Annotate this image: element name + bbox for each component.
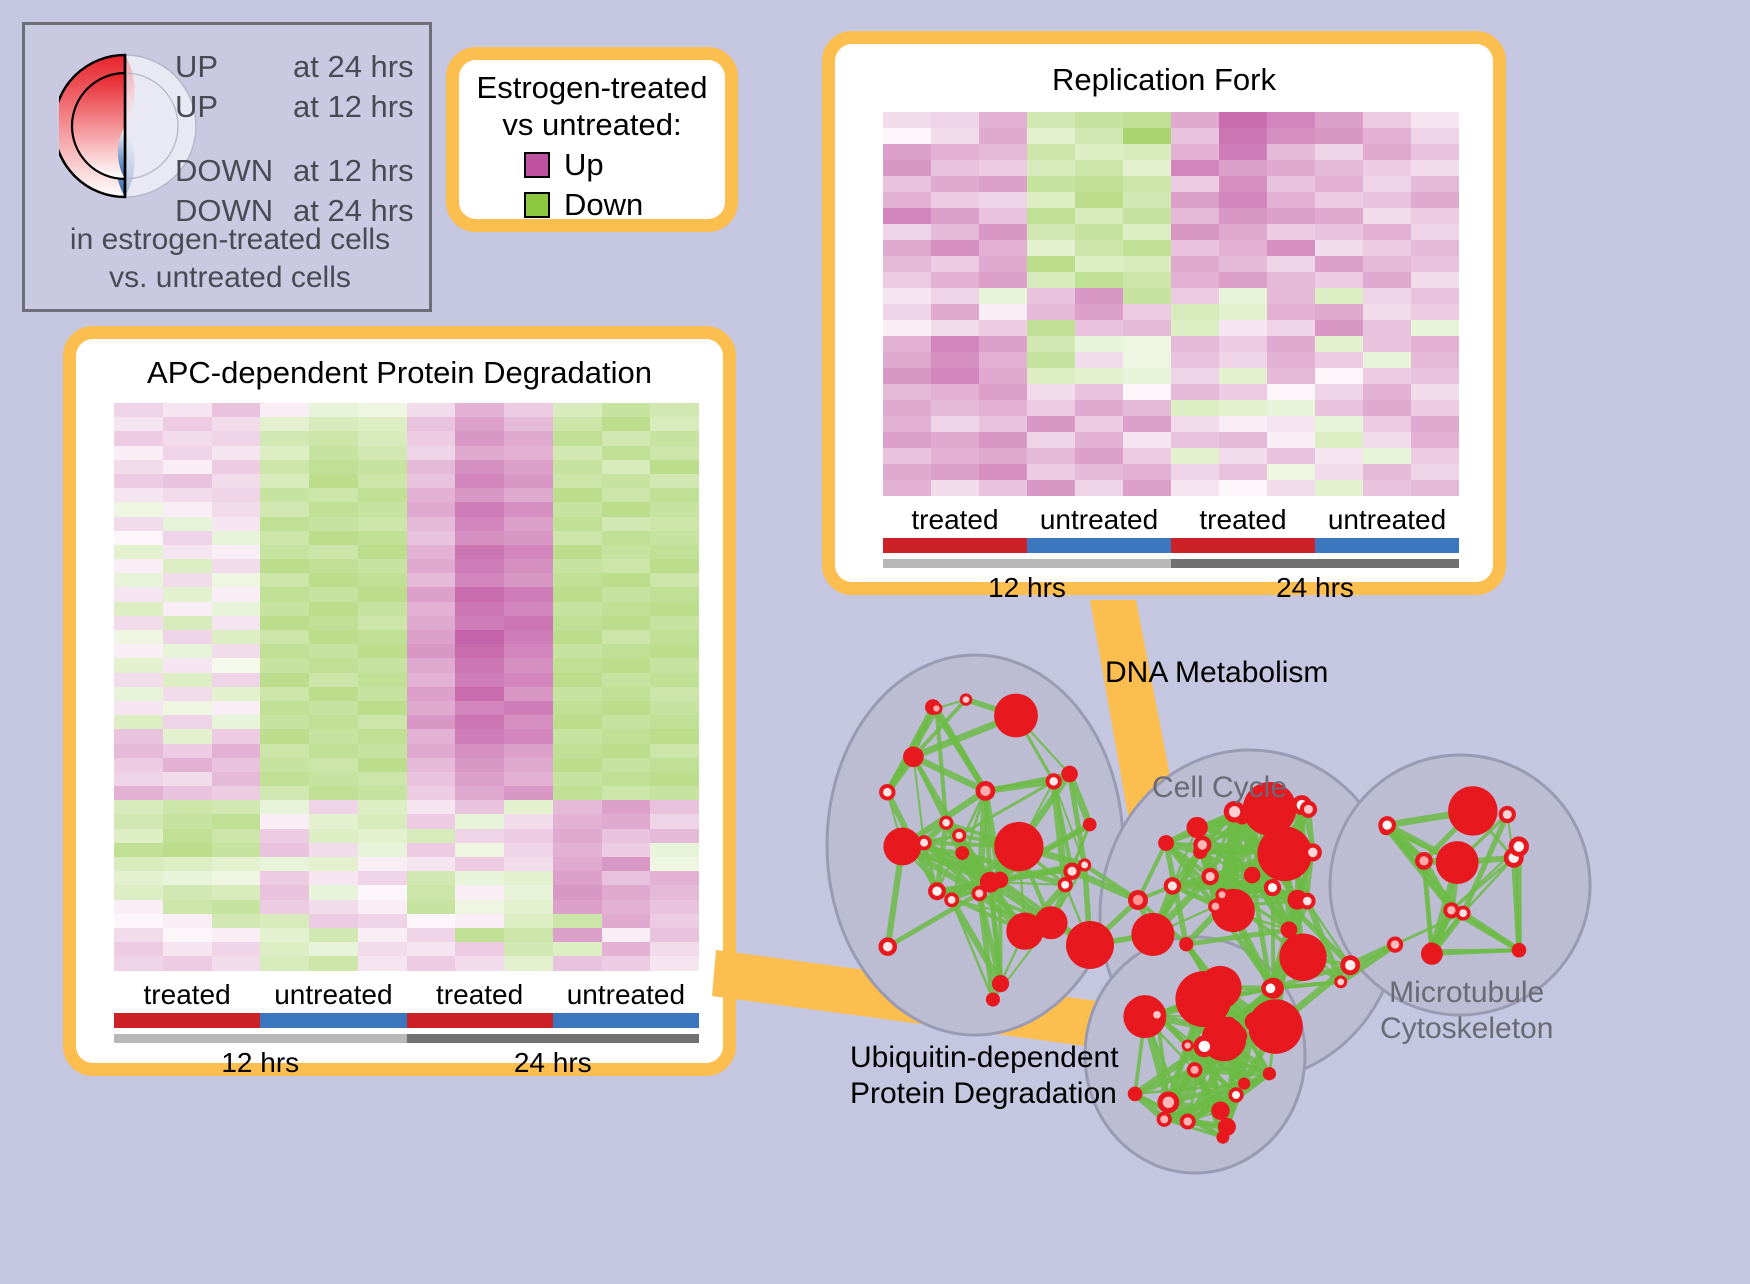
heatmap-cell [602, 658, 651, 672]
heatmap-cell [309, 403, 358, 417]
heatmap-cell [979, 240, 1027, 256]
heatmap-cell [883, 448, 931, 464]
network-node[interactable] [1061, 766, 1078, 783]
heatmap-cell [1411, 416, 1459, 432]
heatmap-cell [407, 616, 456, 630]
heatmap-cell [1219, 384, 1267, 400]
heatmap-cell [1123, 480, 1171, 496]
heatmap-cell [1075, 288, 1123, 304]
heatmap-cell [1219, 352, 1267, 368]
heatmap-cell [309, 857, 358, 871]
condition-bar-segment [407, 1013, 553, 1028]
heatmap-cell [931, 272, 979, 288]
heatmap-cell [602, 772, 651, 786]
heatmap-cell [650, 673, 699, 687]
heatmap-cell [504, 673, 553, 687]
heatmap-cell [650, 644, 699, 658]
heatmap-cell [504, 871, 553, 885]
heatmap-cell [931, 368, 979, 384]
heatmap-cell [1123, 320, 1171, 336]
heatmap-cell [260, 814, 309, 828]
heatmap-cell [1123, 464, 1171, 480]
network-node[interactable] [994, 822, 1043, 871]
heatmap-cell [260, 644, 309, 658]
network-node[interactable] [1228, 1026, 1247, 1045]
network-node[interactable] [1448, 786, 1497, 835]
heatmap-cell [1219, 288, 1267, 304]
heatmap-cell [212, 573, 261, 587]
heatmap-cell [358, 446, 407, 460]
network-node[interactable] [1214, 989, 1234, 1009]
replication-fork-condition-bar [883, 538, 1459, 553]
network-node[interactable] [1150, 1007, 1165, 1022]
heatmap-cell [1315, 272, 1363, 288]
heatmap-cell [114, 488, 163, 502]
heatmap-cell [212, 885, 261, 899]
network-node[interactable] [1509, 836, 1529, 856]
heatmap-cell [650, 687, 699, 701]
legend-value: at 12 hrs [293, 89, 414, 125]
network-node[interactable] [1263, 1067, 1276, 1080]
heatmap-cell [260, 687, 309, 701]
heatmap-cell [602, 729, 651, 743]
heatmap-cell [309, 829, 358, 843]
network-node[interactable] [1378, 816, 1396, 834]
node-inner-core [1337, 978, 1344, 985]
heatmap-cell [1123, 304, 1171, 320]
node-inner-core [883, 788, 892, 797]
heatmap-cell [883, 480, 931, 496]
network-node[interactable] [1334, 975, 1347, 988]
heatmap-cell [455, 829, 504, 843]
heatmap-cell [212, 460, 261, 474]
heatmap-cell [602, 758, 651, 772]
heatmap-cell [212, 729, 261, 743]
network-node[interactable] [944, 892, 959, 907]
heatmap-cell [1075, 128, 1123, 144]
network-node[interactable] [1443, 902, 1459, 918]
heatmap-cell [883, 160, 931, 176]
network-node[interactable] [1281, 921, 1298, 938]
heatmap-cell [163, 900, 212, 914]
heatmap-cell [309, 658, 358, 672]
heatmap-cell [979, 144, 1027, 160]
network-node[interactable] [1193, 1035, 1215, 1057]
network-node[interactable] [928, 882, 946, 900]
heatmap-cell [553, 587, 602, 601]
network-node[interactable] [1208, 899, 1223, 914]
heatmap-cell [309, 885, 358, 899]
network-node[interactable] [1304, 843, 1322, 861]
heatmap-cell [455, 701, 504, 715]
heatmap-cell [602, 715, 651, 729]
network-node[interactable] [1421, 943, 1443, 965]
node-inner-core [1160, 1115, 1168, 1123]
heatmap-cell [504, 517, 553, 531]
heatmap-cell [163, 914, 212, 928]
heatmap-cell [1363, 448, 1411, 464]
heatmap-cell [1411, 272, 1459, 288]
network-node[interactable] [992, 975, 1009, 992]
heatmap-cell [553, 786, 602, 800]
heatmap-cell [650, 843, 699, 857]
network-node[interactable] [883, 828, 921, 866]
heatmap-cell [553, 460, 602, 474]
heatmap-cell [163, 403, 212, 417]
heatmap-cell [650, 800, 699, 814]
heatmap-cell [455, 502, 504, 516]
heatmap-cell [212, 502, 261, 516]
heatmap-cell [114, 573, 163, 587]
heatmap-cell [114, 673, 163, 687]
time-label: 24 hrs [407, 1047, 700, 1079]
heatmap-cell [1219, 112, 1267, 128]
heatmap-cell [931, 480, 979, 496]
heatmap-cell [114, 900, 163, 914]
network-node[interactable] [916, 835, 931, 850]
network-node[interactable] [1164, 877, 1181, 894]
node-inner-core [1185, 1042, 1191, 1048]
network-node[interactable] [878, 937, 897, 956]
network-node[interactable] [1006, 913, 1043, 950]
network-node[interactable] [1066, 921, 1114, 969]
heatmap-cell [1075, 176, 1123, 192]
heatmap-cell [1219, 480, 1267, 496]
heatmap-cell [504, 658, 553, 672]
heatmap-cell [1267, 160, 1315, 176]
heatmap-cell [114, 559, 163, 573]
heatmap-cell [407, 871, 456, 885]
heatmap-cell [1171, 272, 1219, 288]
network-node[interactable] [1058, 877, 1073, 892]
heatmap-cell [1027, 480, 1075, 496]
heatmap-cell [931, 208, 979, 224]
heatmap-cell [163, 871, 212, 885]
heatmap-cell [1075, 208, 1123, 224]
heatmap-cell [163, 857, 212, 871]
heatmap-cell [1363, 128, 1411, 144]
heatmap-cell [163, 517, 212, 531]
heatmap-cell [931, 320, 979, 336]
network-node[interactable] [1131, 913, 1174, 956]
heatmap-cell [650, 531, 699, 545]
heatmap-cell [1171, 416, 1219, 432]
heatmap-cell [1267, 176, 1315, 192]
heatmap-cell [602, 630, 651, 644]
heatmap-cell [114, 531, 163, 545]
heatmap-cell [1315, 304, 1363, 320]
node-outer-ring [955, 846, 969, 860]
heatmap-cell [1363, 352, 1411, 368]
heatmap-cell [1171, 384, 1219, 400]
heatmap-cell [407, 687, 456, 701]
heatmap-cell [1171, 208, 1219, 224]
heatmap-cell [931, 352, 979, 368]
heatmap-cell [1411, 144, 1459, 160]
node-outer-ring [992, 975, 1009, 992]
network-node[interactable] [1157, 1112, 1172, 1127]
heatmap-cell [650, 928, 699, 942]
heatmap-cell [114, 857, 163, 871]
network-node[interactable] [1078, 858, 1091, 871]
heatmap-cell [1075, 352, 1123, 368]
heatmap-cell [1123, 224, 1171, 240]
heatmap-cell [212, 800, 261, 814]
heatmap-cell [650, 942, 699, 956]
node-inner-core [942, 819, 949, 826]
heatmap-cell [1075, 416, 1123, 432]
heatmap-cell [1219, 336, 1267, 352]
heatmap-cell [1171, 320, 1219, 336]
network-node[interactable] [1228, 1087, 1243, 1102]
node-outer-ring [1277, 839, 1296, 858]
heatmap-cell [114, 800, 163, 814]
updown-key-row-down: Down [459, 187, 725, 223]
heatmap-cell [1171, 480, 1219, 496]
heatmap-cell [114, 403, 163, 417]
heatmap-cell [504, 885, 553, 899]
network-node[interactable] [1180, 1113, 1196, 1129]
network-node[interactable] [1512, 943, 1527, 958]
network-node[interactable] [1261, 979, 1280, 998]
heatmap-cell [407, 403, 456, 417]
heatmap-cell [650, 900, 699, 914]
updown-title-line-2: vs untreated: [459, 107, 725, 144]
network-node[interactable] [879, 784, 895, 800]
heatmap-cell [309, 701, 358, 715]
network-node[interactable] [903, 747, 924, 768]
heatmap-cell [1027, 240, 1075, 256]
node-outer-ring [1179, 937, 1193, 951]
node-outer-ring [994, 694, 1038, 738]
heatmap-cell [358, 502, 407, 516]
heatmap-cell [407, 602, 456, 616]
heatmap-cell [1075, 240, 1123, 256]
heatmap-cell [358, 602, 407, 616]
heatmap-cell [114, 914, 163, 928]
heatmap-cell [455, 488, 504, 502]
heatmap-cell [602, 474, 651, 488]
heatmap-cell [1075, 432, 1123, 448]
heatmap-cell [114, 616, 163, 630]
heatmap-cell [1411, 320, 1459, 336]
heatmap-cell [358, 744, 407, 758]
heatmap-cell [979, 368, 1027, 384]
heatmap-cell [358, 630, 407, 644]
node-inner-core [933, 705, 939, 711]
network-node[interactable] [1218, 1118, 1236, 1136]
network-node[interactable] [971, 886, 987, 902]
network-node[interactable] [1193, 836, 1211, 854]
node-inner-core [975, 889, 983, 897]
heatmap-cell [1267, 224, 1315, 240]
heatmap-cell [455, 531, 504, 545]
heatmap-cell [1027, 304, 1075, 320]
heatmap-cell [212, 658, 261, 672]
network-node[interactable] [986, 992, 1000, 1006]
network-node[interactable] [1277, 839, 1296, 858]
heatmap-cell [455, 446, 504, 460]
heatmap-cell [163, 545, 212, 559]
heatmap-cell [1411, 448, 1459, 464]
heatmap-cell [455, 900, 504, 914]
network-node[interactable] [994, 694, 1038, 738]
network-node[interactable] [1300, 801, 1317, 818]
heatmap-cell [114, 446, 163, 460]
heatmap-cell [163, 531, 212, 545]
heatmap-cell [1411, 384, 1459, 400]
node-outer-ring [1244, 867, 1261, 884]
heatmap-cell [1315, 160, 1363, 176]
heatmap-cell [163, 644, 212, 658]
network-node[interactable] [1238, 1078, 1250, 1090]
node-outer-ring [1245, 1012, 1265, 1032]
condition-bar-segment [1315, 538, 1459, 553]
heatmap-cell [455, 744, 504, 758]
heatmap-cell [212, 928, 261, 942]
heatmap-cell [358, 517, 407, 531]
network-node[interactable] [1245, 1012, 1265, 1032]
heatmap-cell [553, 843, 602, 857]
node-inner-core [1067, 867, 1076, 876]
heatmap-cell [212, 914, 261, 928]
heatmap-cell [309, 786, 358, 800]
heatmap-cell [358, 758, 407, 772]
network-node[interactable] [1083, 818, 1097, 832]
heatmap-cell [553, 673, 602, 687]
heatmap-cell [602, 602, 651, 616]
node-inner-core [1229, 806, 1240, 817]
network-node[interactable] [939, 816, 953, 830]
heatmap-cell [1411, 336, 1459, 352]
node-inner-core [1268, 883, 1277, 892]
node-inner-core [1266, 984, 1276, 994]
heatmap-cell [504, 900, 553, 914]
network-node[interactable] [952, 828, 966, 842]
heatmap-cell [212, 871, 261, 885]
heatmap-cell [931, 192, 979, 208]
heatmap-cell [931, 400, 979, 416]
heatmap-cell [455, 715, 504, 729]
heatmap-cell [114, 687, 163, 701]
heatmap-cell [931, 240, 979, 256]
heatmap-cell [260, 502, 309, 516]
network-node[interactable] [1211, 1101, 1229, 1119]
heatmap-cell [212, 431, 261, 445]
network-node[interactable] [1340, 955, 1360, 975]
heatmap-cell [407, 857, 456, 871]
heatmap-cell [163, 687, 212, 701]
network-node[interactable] [1158, 835, 1174, 851]
network-node[interactable] [1179, 937, 1193, 951]
network-node[interactable] [1299, 893, 1316, 910]
network-node[interactable] [1415, 852, 1433, 870]
heatmap-cell [260, 403, 309, 417]
heatmap-cell [309, 956, 358, 970]
heatmap-cell [1363, 224, 1411, 240]
node-inner-core [955, 832, 962, 839]
network-node[interactable] [1264, 879, 1281, 896]
heatmap-cell [602, 857, 651, 871]
network-node[interactable] [1182, 1040, 1194, 1052]
heatmap-cell [1315, 112, 1363, 128]
heatmap-cell [358, 687, 407, 701]
heatmap-cell [553, 602, 602, 616]
heatmap-cell [163, 630, 212, 644]
heatmap-cell [979, 176, 1027, 192]
heatmap-cell [114, 829, 163, 843]
heatmap-cell [979, 288, 1027, 304]
network-node[interactable] [1499, 806, 1516, 823]
heatmap-cell [260, 431, 309, 445]
heatmap-cell [553, 559, 602, 573]
heatmap-cell [1027, 384, 1075, 400]
time-bar-segment [1171, 559, 1459, 568]
heatmap-cell [504, 744, 553, 758]
heatmap-cell [260, 758, 309, 772]
heatmap-cell [1123, 416, 1171, 432]
time-label: 12 hrs [114, 1047, 407, 1079]
network-node[interactable] [1279, 933, 1326, 980]
heatmap-cell [407, 715, 456, 729]
heatmap-cell [212, 744, 261, 758]
heatmap-cell [1411, 160, 1459, 176]
heatmap-cell [1219, 464, 1267, 480]
network-node[interactable] [930, 702, 942, 714]
heatmap-cell [455, 673, 504, 687]
heatmap-cell [358, 573, 407, 587]
network-node[interactable] [1215, 888, 1228, 901]
heatmap-cell [407, 517, 456, 531]
heatmap-cell [1267, 352, 1315, 368]
heatmap-cell [1411, 256, 1459, 272]
replication-fork-title: Replication Fork [835, 44, 1493, 98]
network-node[interactable] [1157, 1091, 1179, 1113]
network-node[interactable] [976, 781, 996, 801]
heatmap-cell [602, 928, 651, 942]
heatmap-cell [163, 885, 212, 899]
heatmap-cell [114, 786, 163, 800]
network-node[interactable] [1201, 868, 1219, 886]
heatmap-cell [650, 460, 699, 474]
heatmap-cell [309, 914, 358, 928]
node-outer-ring [1238, 1078, 1250, 1090]
network-node[interactable] [1187, 817, 1208, 838]
network-node[interactable] [1244, 867, 1261, 884]
network-node[interactable] [955, 846, 969, 860]
heatmap-cell [212, 488, 261, 502]
network-node[interactable] [1128, 1087, 1143, 1102]
network-node[interactable] [1436, 841, 1479, 884]
heatmap-cell [1027, 272, 1075, 288]
heatmap-cell [260, 900, 309, 914]
heatmap-cell [163, 431, 212, 445]
heatmap-cell [1363, 320, 1411, 336]
heatmap-cell [553, 885, 602, 899]
network-node[interactable] [1387, 936, 1403, 952]
heatmap-cell [1075, 384, 1123, 400]
condition-label: treated [1171, 504, 1315, 536]
heatmap-cell [163, 928, 212, 942]
heatmap-cell [358, 843, 407, 857]
heatmap-cell [1315, 320, 1363, 336]
network-node[interactable] [1128, 890, 1148, 910]
network-node[interactable] [1187, 1062, 1203, 1078]
heatmap-cell [650, 772, 699, 786]
network-node[interactable] [1046, 773, 1062, 789]
network-node[interactable] [960, 693, 973, 706]
heatmap-cell [163, 843, 212, 857]
